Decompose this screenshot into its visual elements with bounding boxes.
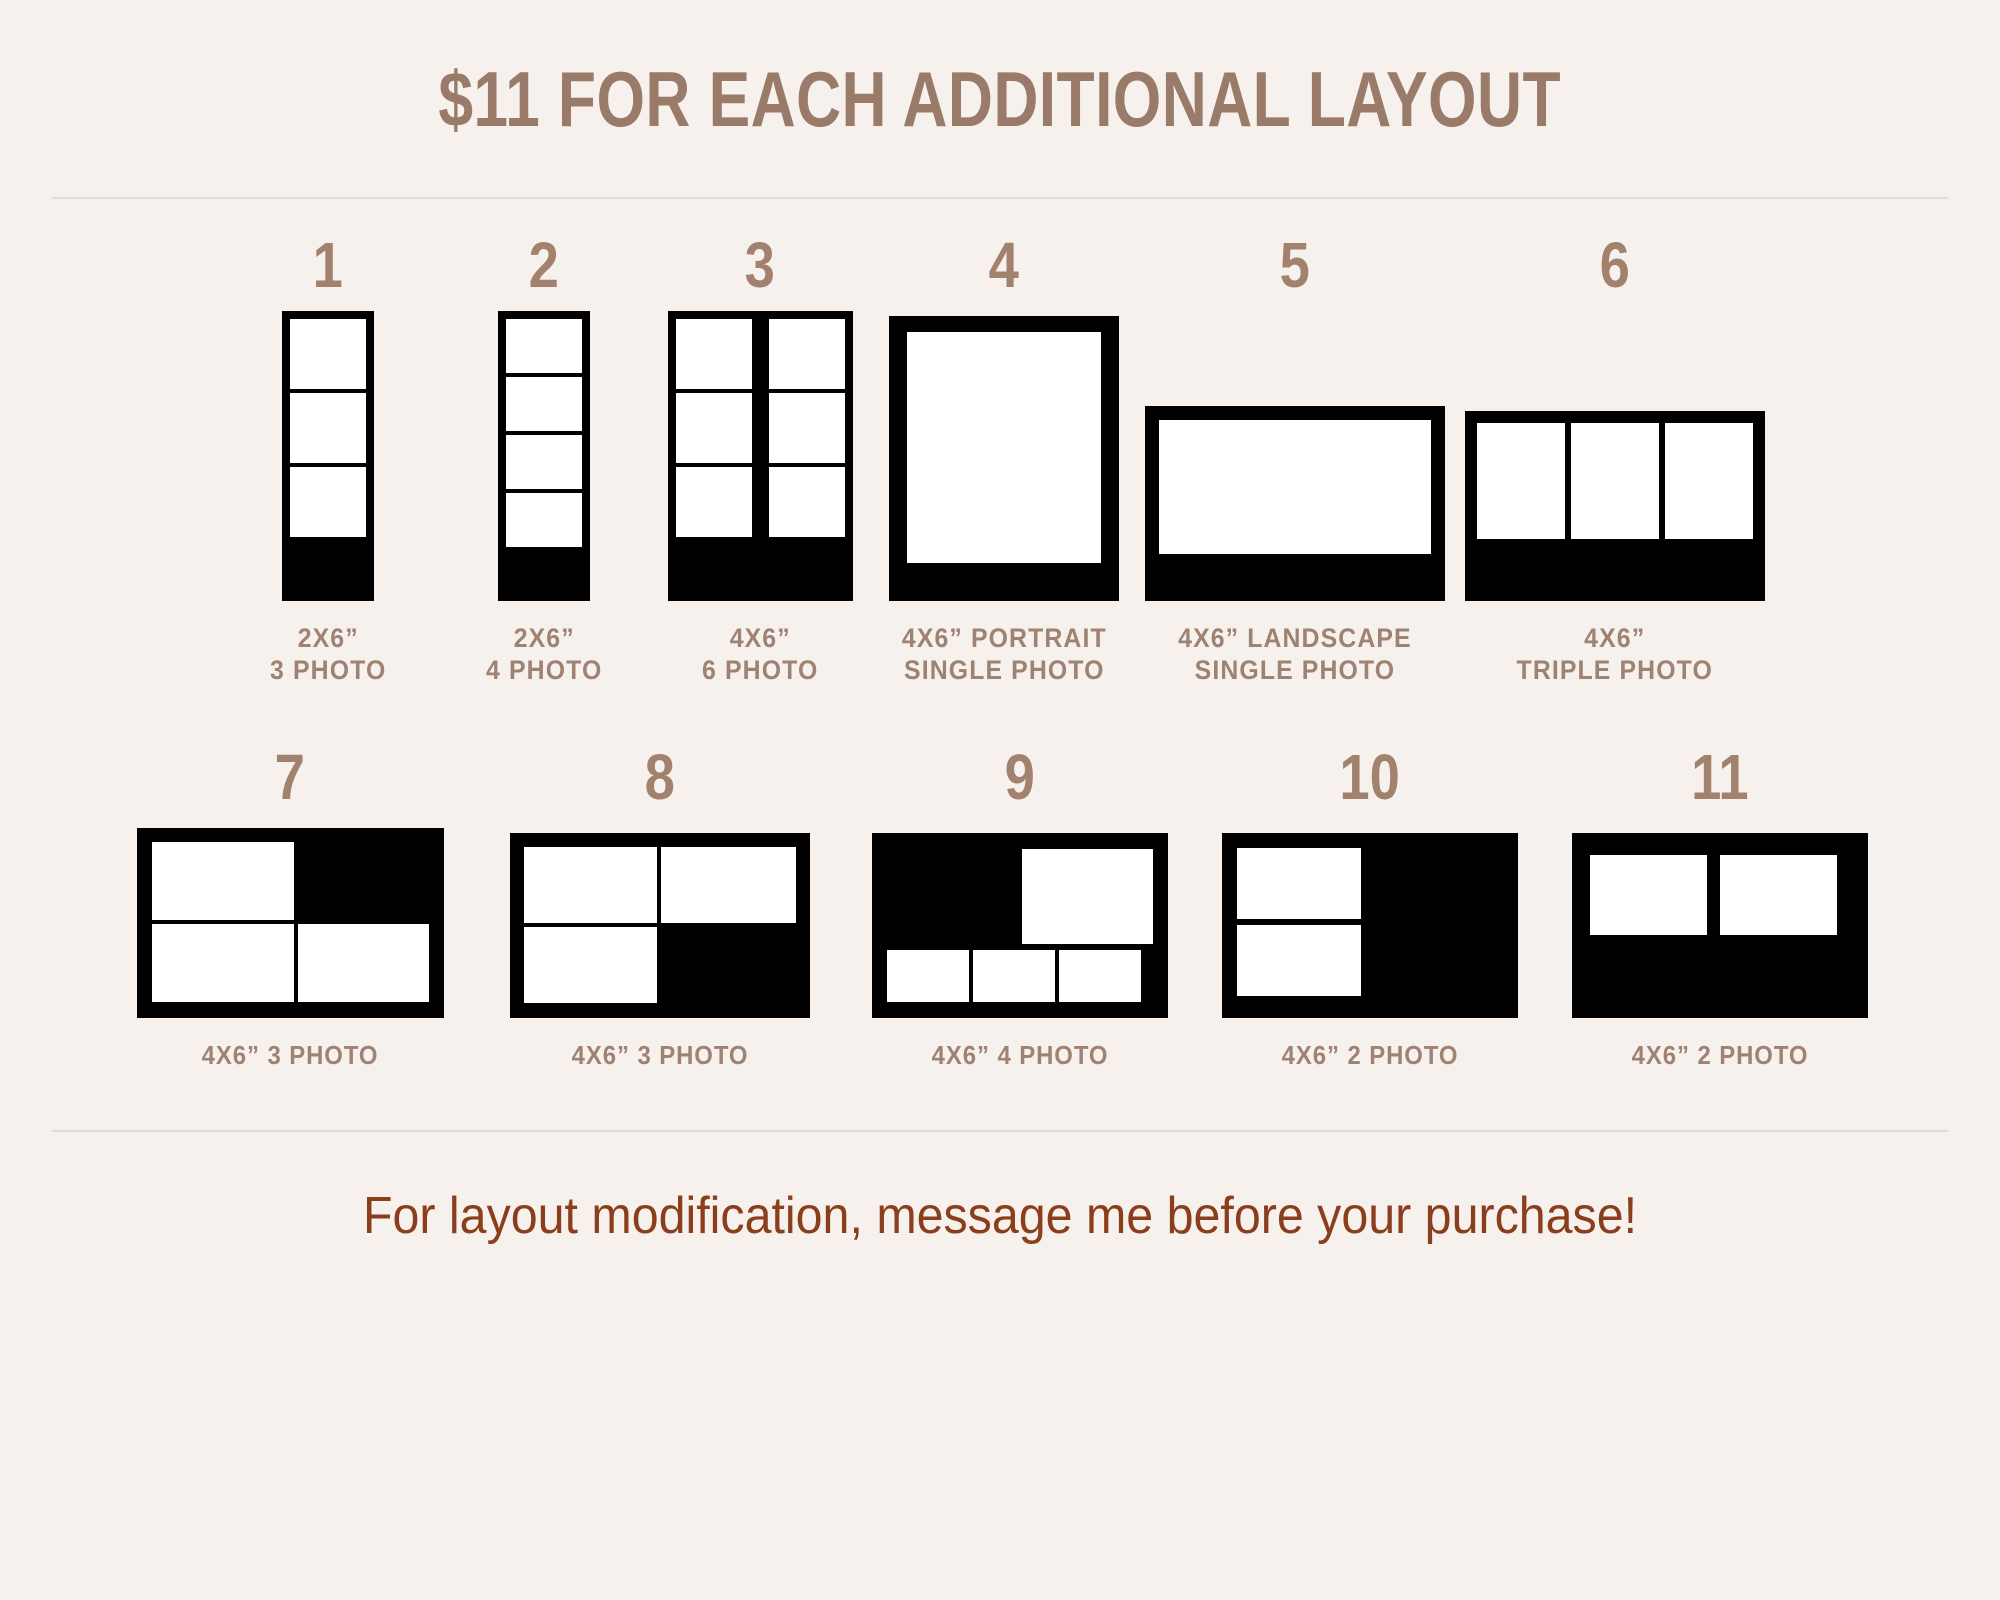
layout-caption: 2X6” 4 PHOTO	[486, 623, 602, 687]
layout-number: 8	[645, 745, 675, 809]
layout-card-4[interactable]: 4 4X6” PORTRAIT SINGLE PHOTO	[868, 233, 1140, 687]
layout-number: 5	[1280, 233, 1310, 297]
layout-number: 9	[1005, 745, 1035, 809]
divider-bottom	[52, 1130, 1948, 1132]
photo-slot	[973, 950, 1055, 1002]
layout-caption: 4X6” PORTRAIT SINGLE PHOTO	[902, 623, 1107, 687]
photo-slot	[676, 393, 752, 463]
layout-number: 10	[1340, 745, 1401, 809]
layout-caption: 4X6” 3 PHOTO	[572, 1040, 749, 1071]
photo-slot	[887, 950, 969, 1002]
photo-slot	[907, 332, 1101, 563]
footer-area: For layout modification, message me befo…	[0, 1186, 2000, 1246]
layout-preview-2	[498, 311, 590, 601]
layout-caption: 2X6” 3 PHOTO	[270, 623, 386, 687]
layout-row-two: 7 4X6” 3 PHOTO 8 4X6” 3 PHOTO	[0, 745, 2000, 1071]
layout-card-6[interactable]: 6 4X6” TRIPLE PHOTO	[1450, 233, 1780, 687]
photo-slot	[676, 467, 752, 537]
layout-number: 2	[529, 233, 559, 297]
photo-slot	[1022, 849, 1153, 944]
photo-slot	[1237, 925, 1361, 996]
layout-caption: 4X6” 6 PHOTO	[702, 623, 818, 687]
photo-slot	[1237, 848, 1361, 919]
layout-number: 6	[1600, 233, 1630, 297]
photo-slot	[506, 377, 582, 431]
layout-card-9[interactable]: 9 4X6” 4 PHOTO	[845, 745, 1195, 1071]
layout-card-11[interactable]: 11 4X6” 2 PHOTO	[1545, 745, 1895, 1071]
layout-caption: 4X6” LANDSCAPE SINGLE PHOTO	[1178, 623, 1412, 687]
layout-card-8[interactable]: 8 4X6” 3 PHOTO	[475, 745, 845, 1071]
photo-slot	[152, 842, 294, 920]
photo-slot	[769, 319, 845, 389]
photo-slot	[152, 924, 294, 1002]
layout-preview-6	[1465, 411, 1765, 601]
page-title: $11 FOR EACH ADDITIONAL LAYOUT	[439, 54, 1562, 145]
layout-card-5[interactable]: 5 4X6” LANDSCAPE SINGLE PHOTO	[1140, 233, 1450, 687]
layout-row-one: 1 2X6” 3 PHOTO 2 2X6” 4 P	[0, 233, 2000, 687]
photo-slot	[290, 467, 366, 537]
layout-preview-4	[889, 316, 1119, 601]
layout-card-1[interactable]: 1 2X6” 3 PHOTO	[220, 233, 436, 687]
photo-slot	[769, 467, 845, 537]
layout-number: 7	[275, 745, 305, 809]
photo-slot	[1720, 855, 1837, 935]
layout-caption: 4X6” TRIPLE PHOTO	[1517, 623, 1713, 687]
layout-number: 4	[989, 233, 1019, 297]
photo-slot	[290, 393, 366, 463]
photo-slot	[298, 924, 429, 1002]
layout-preview-9	[872, 833, 1168, 1018]
layout-preview-5	[1145, 406, 1445, 601]
photo-slot	[290, 319, 366, 389]
layout-caption: 4X6” 3 PHOTO	[202, 1040, 379, 1071]
layout-number: 3	[745, 233, 775, 297]
layout-number: 11	[1691, 745, 1749, 809]
photo-slot	[524, 847, 657, 923]
photo-slot	[676, 319, 752, 389]
layout-card-3[interactable]: 3 4X6” 6 PHOTO	[652, 233, 868, 687]
photo-slot	[524, 927, 657, 1003]
layout-caption: 4X6” 4 PHOTO	[932, 1040, 1109, 1071]
layout-preview-10	[1222, 833, 1518, 1018]
layout-preview-3	[668, 311, 853, 601]
layout-caption: 4X6” 2 PHOTO	[1632, 1040, 1809, 1071]
photo-slot	[1159, 420, 1431, 554]
photo-slot	[506, 435, 582, 489]
photo-slot	[1571, 423, 1659, 539]
photo-slot	[506, 493, 582, 547]
divider-top	[52, 197, 1948, 199]
photo-slot	[1477, 423, 1565, 539]
photo-slot	[1590, 855, 1707, 935]
layout-card-10[interactable]: 10 4X6” 2 PHOTO	[1195, 745, 1545, 1071]
layout-preview-1	[282, 311, 374, 601]
layout-number: 1	[313, 233, 343, 297]
title-area: $11 FOR EACH ADDITIONAL LAYOUT	[0, 0, 2000, 145]
layout-price-sheet: $11 FOR EACH ADDITIONAL LAYOUT 1 2X6” 3 …	[0, 0, 2000, 1600]
layout-card-7[interactable]: 7 4X6” 3 PHOTO	[105, 745, 475, 1071]
photo-slot	[661, 847, 796, 923]
layout-caption: 4X6” 2 PHOTO	[1282, 1040, 1459, 1071]
layout-preview-11	[1572, 833, 1868, 1018]
photo-slot	[506, 319, 582, 373]
layout-preview-7	[137, 828, 444, 1018]
layout-card-2[interactable]: 2 2X6” 4 PHOTO	[436, 233, 652, 687]
layout-preview-8	[510, 833, 810, 1018]
photo-slot	[1665, 423, 1753, 539]
photo-slot	[1059, 950, 1141, 1002]
footer-note: For layout modification, message me befo…	[363, 1186, 1637, 1246]
photo-slot	[769, 393, 845, 463]
